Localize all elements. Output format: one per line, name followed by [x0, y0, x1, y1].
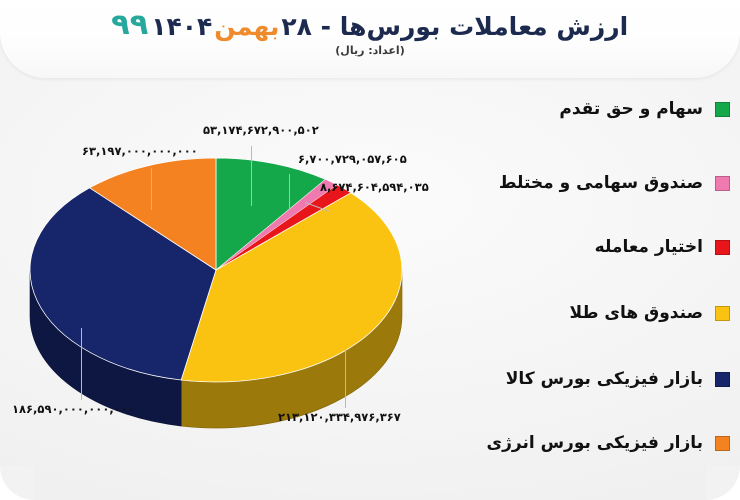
- leader-line-gold: [345, 346, 346, 408]
- leader-line-equity: [251, 146, 252, 206]
- leader-line-mixed: [289, 174, 290, 210]
- title-month: بهمن: [212, 8, 281, 46]
- corner-bottom-left: [0, 466, 34, 500]
- corner-bottom-right: [706, 466, 740, 500]
- leader-line-commodity: [81, 328, 82, 400]
- legend: سهام و حق تقدمصندوق سهامی و مختلطاختیار …: [440, 82, 730, 492]
- legend-item-label: بازار فیزیکی بورس کالا: [506, 366, 703, 392]
- title-year: ۱۴۰۴: [151, 8, 212, 46]
- legend-swatch-icon: [715, 240, 730, 255]
- legend-item-5[interactable]: بازار فیزیکی بورس انرژی: [487, 430, 730, 456]
- chart-stage: ۶۳,۱۹۷,۰۰۰,۰۰۰,۰۰۰ ۵۳,۱۷۴,۶۷۲,۹۰۰,۵۰۲ ۶,…: [0, 78, 740, 500]
- leader-line-energy: [151, 168, 152, 210]
- page-title: ارزش معاملات بورس‌ها - ۲۸: [281, 8, 628, 46]
- title-row: ارزش معاملات بورس‌ها - ۲۸ بهمن ۱۴۰۴ ٩٩: [0, 8, 740, 46]
- data-label-gold: ۲۱۳,۱۲۰,۳۳۴,۹۷۶,۳۶۷: [278, 410, 401, 424]
- legend-item-label: اختیار معامله: [595, 234, 703, 260]
- legend-item-0[interactable]: سهام و حق تقدم: [559, 96, 730, 122]
- legend-swatch-icon: [715, 436, 730, 451]
- legend-swatch-icon: [715, 176, 730, 191]
- data-label-commodity: ۱۸۶,۵۹۰,۰۰۰,۰۰۰,۰۰۰: [12, 402, 135, 416]
- data-label-equity: ۵۳,۱۷۴,۶۷۲,۹۰۰,۵۰۲: [203, 123, 319, 137]
- data-label-option: ۸,۶۷۴,۶۰۴,۵۹۴,۰۳۵: [320, 180, 429, 194]
- legend-swatch-icon: [715, 102, 730, 117]
- header-banner: ارزش معاملات بورس‌ها - ۲۸ بهمن ۱۴۰۴ ٩٩ (…: [0, 0, 740, 78]
- legend-item-1[interactable]: صندوق سهامی و مختلط: [499, 170, 730, 196]
- chart-page: ارزش معاملات بورس‌ها - ۲۸ بهمن ۱۴۰۴ ٩٩ (…: [0, 0, 740, 500]
- legend-item-label: صندوق های طلا: [570, 300, 703, 326]
- legend-item-label: صندوق سهامی و مختلط: [499, 170, 703, 196]
- data-label-energy: ۶۳,۱۹۷,۰۰۰,۰۰۰,۰۰۰: [82, 144, 198, 158]
- legend-item-2[interactable]: اختیار معامله: [595, 234, 730, 260]
- data-label-mixed-fund: ۶,۷۰۰,۷۲۹,۰۵۷,۶۰۵: [298, 152, 407, 166]
- legend-item-4[interactable]: بازار فیزیکی بورس کالا: [506, 366, 730, 392]
- legend-item-label: بازار فیزیکی بورس انرژی: [487, 430, 703, 456]
- legend-swatch-icon: [715, 306, 730, 321]
- subtitle: (اعداد: ریال): [0, 44, 740, 57]
- legend-swatch-icon: [715, 372, 730, 387]
- legend-item-3[interactable]: صندوق های طلا: [570, 300, 730, 326]
- legend-item-label: سهام و حق تقدم: [559, 96, 703, 122]
- quote-mark-icon: ٩٩: [111, 9, 148, 39]
